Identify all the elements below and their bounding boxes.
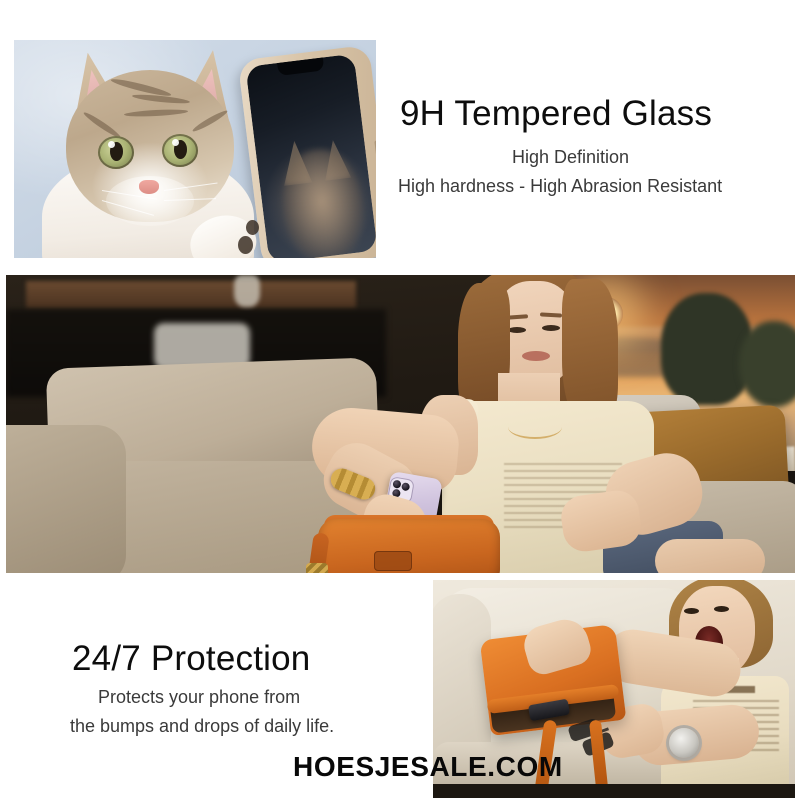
phone-screen	[245, 54, 376, 258]
bag-gold-chain	[306, 563, 328, 573]
drop-woman-eye-right	[714, 606, 729, 612]
kitten-toe-1	[238, 236, 253, 254]
subline-bumps-and-drops: the bumps and drops of daily life.	[70, 716, 334, 737]
photo-kitten-with-phone	[14, 40, 376, 258]
phone-notch	[277, 57, 324, 76]
woman-lips	[522, 351, 550, 361]
tree-silhouette	[661, 293, 753, 405]
dark-floor-strip	[433, 784, 795, 798]
headline-protection: 24/7 Protection	[72, 639, 310, 679]
wristwatch	[669, 728, 699, 758]
background-vase	[234, 275, 260, 307]
infographic-page: 9H Tempered Glass High Definition High h…	[0, 0, 800, 800]
gold-necklace	[508, 415, 562, 439]
headline-tempered-glass: 9H Tempered Glass	[400, 94, 712, 134]
kitten-toe-2	[246, 220, 259, 235]
kitten-nose	[139, 180, 159, 194]
tree-silhouette-secondary	[739, 321, 795, 407]
kitten-eye-glint-right	[172, 139, 179, 146]
woman-eye-left	[508, 327, 526, 333]
subline-protects-your-phone: Protects your phone from	[98, 687, 300, 708]
site-watermark: HOESJESALE.COM	[293, 751, 563, 783]
subline-high-definition: High Definition	[512, 147, 629, 168]
drop-woman-eye-left	[684, 608, 699, 614]
photo-woman-placing-phone-in-bag	[6, 275, 795, 573]
kitten-eye-glint-left	[108, 141, 115, 148]
camera-lens-2	[401, 482, 410, 491]
woman-leg	[655, 539, 765, 573]
camera-lens-1	[392, 480, 401, 489]
woman-eye-right	[542, 325, 560, 331]
subline-high-hardness: High hardness - High Abrasion Resistant	[398, 176, 722, 197]
background-shelf	[26, 281, 356, 309]
bag-leather-patch	[374, 551, 412, 571]
phone-side-button	[374, 140, 376, 180]
sofa-armrest-left	[6, 425, 126, 573]
